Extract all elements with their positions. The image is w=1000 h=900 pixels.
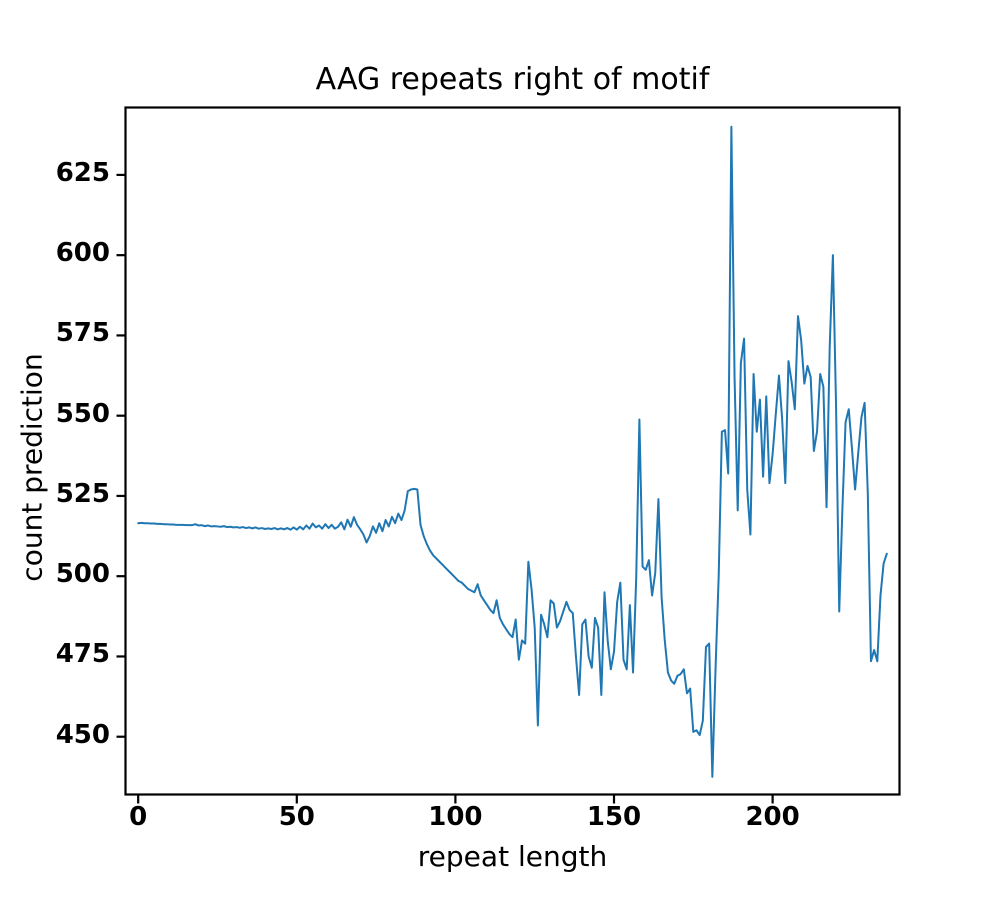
y-tick-label: 600 bbox=[56, 238, 110, 268]
y-tick-label: 500 bbox=[56, 559, 110, 589]
y-tick-marks bbox=[117, 175, 126, 737]
y-tick-label-wrap: 550 bbox=[0, 399, 110, 429]
y-tick-label: 550 bbox=[56, 399, 110, 429]
x-tick-label: 150 bbox=[554, 802, 674, 832]
y-tick-label-wrap: 450 bbox=[0, 720, 110, 750]
x-tick-label: 200 bbox=[713, 802, 833, 832]
x-tick-label-wrap: 200 bbox=[713, 802, 833, 836]
y-tick-label: 525 bbox=[56, 479, 110, 509]
x-tick-label: 0 bbox=[78, 802, 198, 832]
data-series-line bbox=[138, 127, 887, 777]
y-tick-label-wrap: 525 bbox=[0, 479, 110, 509]
figure-canvas: AAG repeats right of motif count predict… bbox=[0, 0, 1000, 900]
x-tick-label-wrap: 150 bbox=[554, 802, 674, 836]
x-tick-label-wrap: 50 bbox=[237, 802, 357, 836]
y-tick-label: 475 bbox=[56, 639, 110, 669]
y-tick-label-wrap: 575 bbox=[0, 318, 110, 348]
y-tick-label: 450 bbox=[56, 720, 110, 750]
x-tick-label: 50 bbox=[237, 802, 357, 832]
y-tick-label: 625 bbox=[56, 158, 110, 188]
x-tick-label-wrap: 100 bbox=[395, 802, 515, 836]
y-tick-label-wrap: 500 bbox=[0, 559, 110, 589]
x-tick-label-wrap: 0 bbox=[78, 802, 198, 836]
y-tick-label-wrap: 625 bbox=[0, 158, 110, 188]
plot-area bbox=[0, 0, 1000, 900]
y-tick-label-wrap: 600 bbox=[0, 238, 110, 268]
y-tick-label-wrap: 475 bbox=[0, 639, 110, 669]
x-tick-label: 100 bbox=[395, 802, 515, 832]
y-tick-label: 575 bbox=[56, 318, 110, 348]
